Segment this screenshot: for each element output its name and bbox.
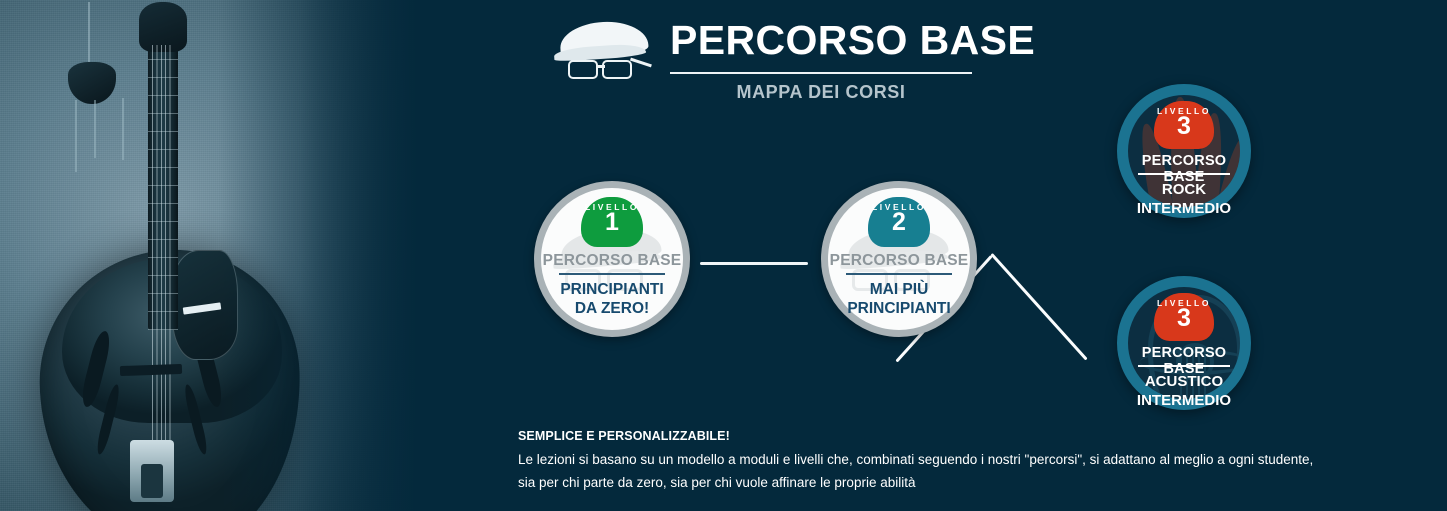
level-badge: LIVELLO 1 bbox=[581, 197, 643, 247]
course-node-level3-acoustic[interactable]: LIVELLO 3 PERCORSO BASE ACUSTICO INTERME… bbox=[1117, 276, 1251, 410]
node-caption: MAI PIÙ PRINCIPIANTI bbox=[834, 280, 964, 318]
glasses-temple-arm bbox=[630, 58, 652, 67]
level-badge: LIVELLO 2 bbox=[868, 197, 930, 247]
level-badge-number: 1 bbox=[605, 211, 619, 233]
course-node-level1[interactable]: LIVELLO 1 PERCORSO BASE PRINCIPIANTI DA … bbox=[534, 181, 690, 337]
level-badge-label: LIVELLO bbox=[585, 202, 639, 212]
node-brand: PERCORSO BASE bbox=[541, 252, 683, 270]
course-node-level3-rock[interactable]: LIVELLO 3 PERCORSO BASE ROCK INTERMEDIO bbox=[1117, 84, 1251, 218]
page-subtitle: MAPPA DEI CORSI bbox=[670, 82, 972, 103]
node-caption-line2: PRINCIPIANTI bbox=[834, 299, 964, 318]
level-badge: LIVELLO 3 bbox=[1154, 293, 1214, 341]
percorso-base-course-map: PERCORSO BASE MAPPA DEI CORSI LIVELLO 1 … bbox=[0, 0, 1447, 511]
level-badge-number: 2 bbox=[892, 211, 906, 233]
node-caption-line2: INTERMEDIO bbox=[1134, 199, 1234, 218]
node-caption-line1: MAI PIÙ bbox=[834, 280, 964, 299]
connector-branch-to-level3 bbox=[990, 140, 1100, 372]
course-node-level2[interactable]: LIVELLO 2 PERCORSO BASE MAI PIÙ PRINCIPI… bbox=[821, 181, 977, 337]
flat-cap-glasses-icon bbox=[552, 20, 656, 82]
level-badge-label: LIVELLO bbox=[1157, 298, 1211, 308]
level-badge-number: 3 bbox=[1177, 115, 1191, 137]
node-caption-line2: INTERMEDIO bbox=[1134, 391, 1234, 410]
node-caption: ROCK INTERMEDIO bbox=[1134, 180, 1234, 218]
node-divider bbox=[1138, 173, 1230, 175]
page-title: PERCORSO BASE bbox=[670, 14, 1035, 66]
footer-body: Le lezioni si basano su un modello a mod… bbox=[518, 448, 1318, 494]
node-caption-line1: ROCK bbox=[1134, 180, 1234, 199]
level-badge-label: LIVELLO bbox=[1157, 106, 1211, 116]
glasses-right-lens bbox=[602, 60, 632, 79]
title-underline bbox=[670, 72, 972, 74]
node-divider bbox=[846, 273, 952, 275]
header: PERCORSO BASE MAPPA DEI CORSI bbox=[552, 14, 1012, 106]
node-caption: ACUSTICO INTERMEDIO bbox=[1134, 372, 1234, 410]
glasses-bridge bbox=[597, 65, 605, 68]
glasses-left-lens bbox=[568, 60, 598, 79]
branch-line-up bbox=[990, 253, 1087, 361]
level-badge-label: LIVELLO bbox=[872, 202, 926, 212]
node-divider bbox=[559, 273, 665, 275]
footer-heading: SEMPLICE E PERSONALIZZABILE! bbox=[518, 429, 1318, 443]
node-caption-line2: DA ZERO! bbox=[547, 299, 677, 318]
node-brand: PERCORSO BASE bbox=[828, 252, 970, 270]
node-divider bbox=[1138, 365, 1230, 367]
node-caption-line1: ACUSTICO bbox=[1134, 372, 1234, 391]
node-caption-line1: PRINCIPIANTI bbox=[547, 280, 677, 299]
level-badge-number: 3 bbox=[1177, 307, 1191, 329]
connector-level1-to-level2 bbox=[700, 262, 808, 265]
node-caption: PRINCIPIANTI DA ZERO! bbox=[547, 280, 677, 318]
footer-description: SEMPLICE E PERSONALIZZABILE! Le lezioni … bbox=[518, 429, 1318, 494]
level-badge: LIVELLO 3 bbox=[1154, 101, 1214, 149]
